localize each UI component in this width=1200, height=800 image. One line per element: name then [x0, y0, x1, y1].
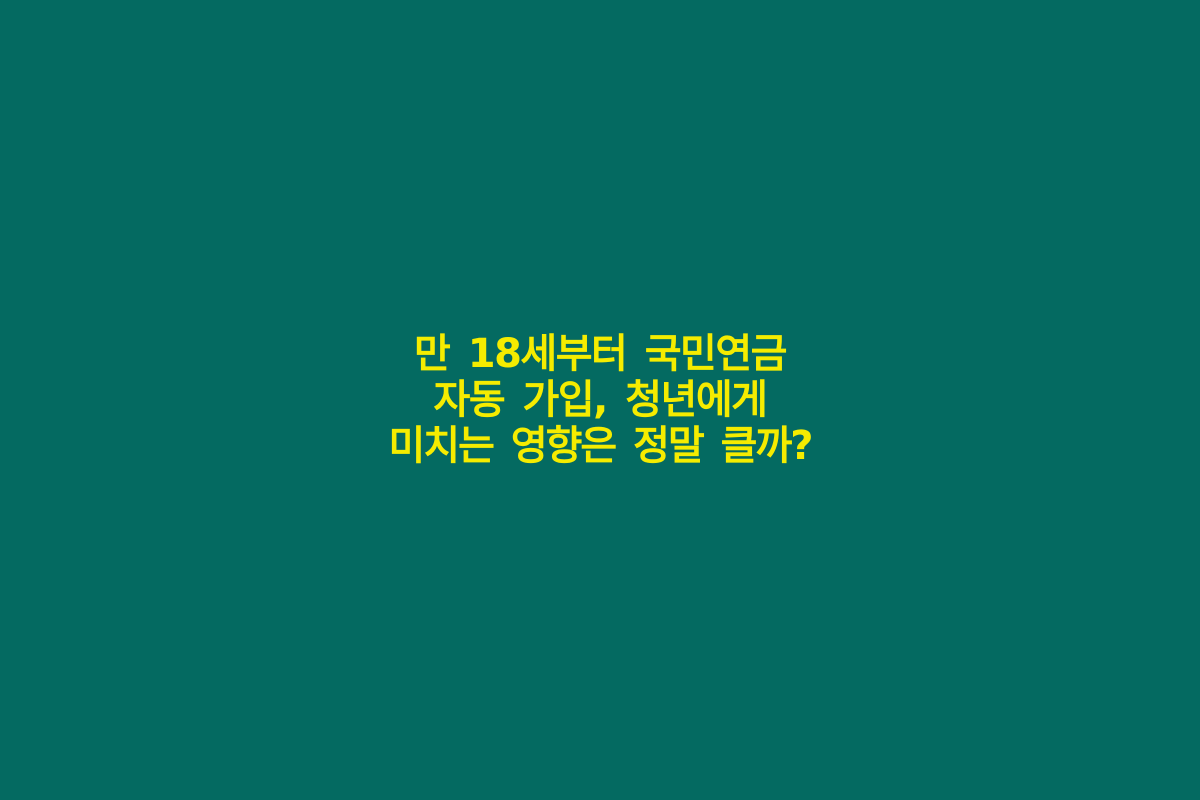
headline-card: 만 18세부터 국민연금 자동 가입, 청년에게 미치는 영향은 정말 클까?	[0, 0, 1200, 800]
headline-line-2: 자동 가입, 청년에게	[10, 377, 1190, 423]
headline-line-3: 미치는 영향은 정말 클까?	[10, 423, 1190, 469]
headline-text: 만 18세부터 국민연금 자동 가입, 청년에게 미치는 영향은 정말 클까?	[0, 331, 1200, 469]
headline-line-1: 만 18세부터 국민연금	[10, 331, 1190, 377]
